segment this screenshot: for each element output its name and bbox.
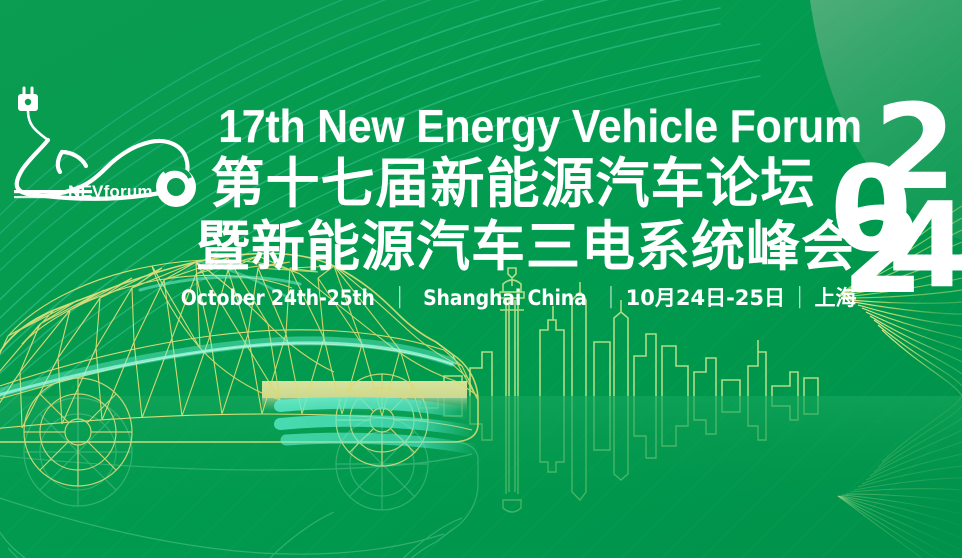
date-chinese: 10月24日-25日 [624,286,787,310]
separator-2: | [598,285,623,309]
logo-wordmark: NEVforum [68,183,153,200]
event-dateline: October 24th-25th | Shanghai China | 10月… [196,286,830,310]
city-english: Shanghai China [422,286,589,310]
headline-block: 17th New Energy Vehicle Forum 第十七届新能源汽车论… [196,100,830,330]
logo-brand-bold: NEV [68,182,104,201]
wheel-icon [156,167,196,207]
logo-brand-light: forum [104,182,153,201]
separator-3: | [787,285,812,309]
date-english: October 24th-25th [179,286,377,310]
year-2024-graphic: 2 0 2 4 [836,104,958,316]
title-english: 17th New Energy Vehicle Forum [218,100,808,152]
title-chinese-main: 第十七届新能源汽车论坛 [196,152,830,215]
year-digit-4: 4 [888,186,962,304]
poster-canvas: NEVforum 17th New Energy Vehicle Forum 第… [0,0,962,558]
separator-1: | [387,285,412,309]
title-chinese-sub: 暨新能源汽车三电系统峰会 [196,215,830,278]
